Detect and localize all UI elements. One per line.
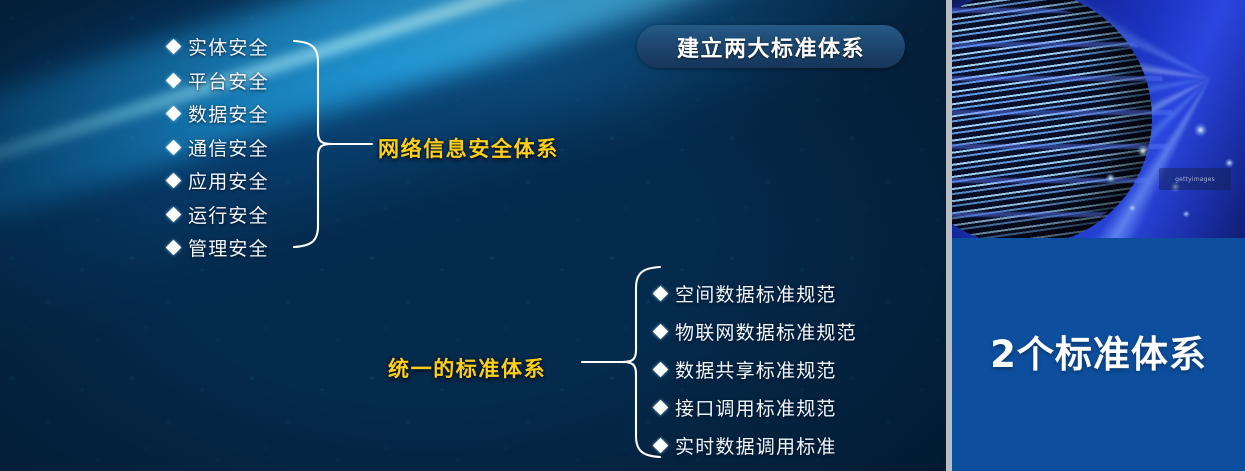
list-item: 数据安全 [168, 97, 269, 131]
list-item-label: 接口调用标准规范 [675, 394, 837, 421]
list-item-label: 运行安全 [188, 201, 269, 228]
list-item-label: 平台安全 [188, 67, 269, 94]
list-item-label: 数据安全 [188, 100, 269, 127]
list-item: 实时数据调用标准 [655, 426, 857, 464]
brace-connector-left [290, 38, 376, 250]
list-item-label: 实时数据调用标准 [675, 432, 837, 459]
brace-connector-right [578, 264, 664, 460]
right-panel-caption: 2个标准体系 [952, 324, 1245, 378]
list-item-label: 数据共享标准规范 [675, 356, 837, 383]
diamond-bullet-icon [653, 361, 669, 377]
diamond-bullet-icon [166, 72, 182, 88]
diamond-bullet-icon [166, 106, 182, 122]
list-item: 通信安全 [168, 131, 269, 165]
diamond-bullet-icon [653, 399, 669, 415]
list-item-label: 通信安全 [188, 134, 269, 161]
right-panel: gettyimages 2个标准体系 [952, 0, 1245, 471]
standards-list: 空间数据标准规范 物联网数据标准规范 数据共享标准规范 接口调用标准规范 实时数… [655, 274, 857, 464]
group-label-unified-standard: 统一的标准体系 [388, 353, 546, 383]
list-item: 平台安全 [168, 64, 269, 98]
list-item: 管理安全 [168, 231, 269, 265]
diamond-bullet-icon [653, 437, 669, 453]
list-item: 接口调用标准规范 [655, 388, 857, 426]
diamond-bullet-icon [653, 285, 669, 301]
security-list: 实体安全 平台安全 数据安全 通信安全 应用安全 运行安全 管理安全 [168, 30, 269, 265]
list-item: 物联网数据标准规范 [655, 312, 857, 350]
getty-watermark: gettyimages [1159, 168, 1231, 190]
slide-root: 建立两大标准体系 实体安全 平台安全 数据安全 通信安全 应用安全 运行安全 [0, 0, 1245, 471]
list-item-label: 管理安全 [188, 234, 269, 261]
diamond-bullet-icon [653, 323, 669, 339]
technology-globe-photo: gettyimages [952, 0, 1245, 238]
list-item-label: 应用安全 [188, 167, 269, 194]
list-item-label: 空间数据标准规范 [675, 280, 837, 307]
diamond-bullet-icon [166, 39, 182, 55]
list-item: 实体安全 [168, 30, 269, 64]
photo-fiber-tips [1071, 70, 1245, 220]
list-item-label: 物联网数据标准规范 [675, 318, 857, 345]
title-badge-label: 建立两大标准体系 [677, 31, 865, 63]
diamond-bullet-icon [166, 240, 182, 256]
diamond-bullet-icon [166, 173, 182, 189]
diamond-bullet-icon [166, 206, 182, 222]
list-item: 数据共享标准规范 [655, 350, 857, 388]
list-item: 空间数据标准规范 [655, 274, 857, 312]
watermark-label: gettyimages [1175, 176, 1215, 183]
group-label-network-security: 网络信息安全体系 [378, 133, 559, 163]
diamond-bullet-icon [166, 139, 182, 155]
title-badge: 建立两大标准体系 [637, 25, 905, 68]
list-item: 运行安全 [168, 198, 269, 232]
right-panel-body: 2个标准体系 [952, 238, 1245, 471]
list-item: 应用安全 [168, 164, 269, 198]
list-item-label: 实体安全 [188, 33, 269, 60]
